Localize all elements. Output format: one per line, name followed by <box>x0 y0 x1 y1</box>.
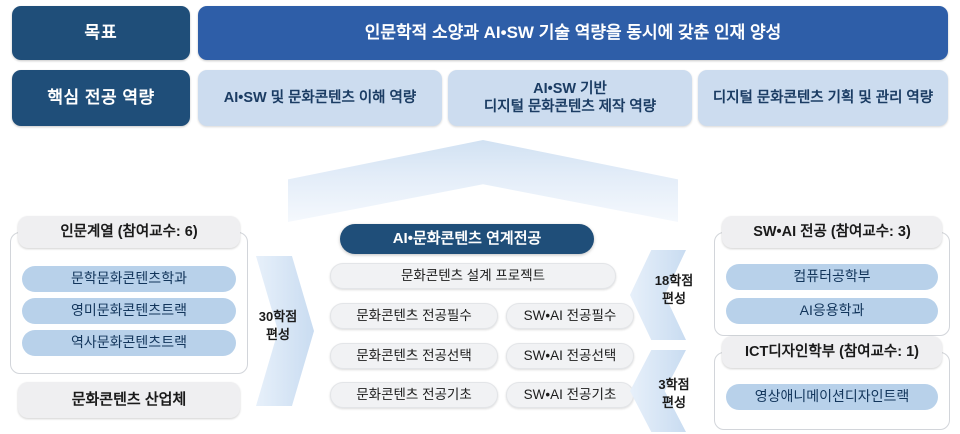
diagram-canvas: 목표 인문학적 소양과 AI•SW 기술 역량을 동시에 갖춘 인재 양성 핵심… <box>0 0 960 434</box>
humanities-department-1: 문학문화콘텐츠학과 <box>22 266 236 292</box>
competency-card-1: AI•SW 및 문화콘텐츠 이해 역량 <box>198 70 442 126</box>
interdisciplinary-major-title: AI•문화콘텐츠 연계전공 <box>340 224 594 254</box>
competency-card-3: 디지털 문화콘텐츠 기획 및 관리 역량 <box>698 70 948 126</box>
credit-label-sw: 18학점 편성 <box>646 272 702 307</box>
swai-panel-header: SW•AI 전공 (참여교수: 3) <box>722 216 942 248</box>
industry-partner-box: 문화콘텐츠 산업체 <box>18 382 240 418</box>
humanities-department-2: 영미문화콘텐츠트랙 <box>22 298 236 324</box>
goal-label: 목표 <box>12 6 190 60</box>
swai-department-1: 컴퓨터공학부 <box>726 264 938 290</box>
course-swai-basic: SW•AI 전공기초 <box>506 382 634 408</box>
upward-chevron-graphic <box>288 140 678 222</box>
course-content-elective: 문화콘텐츠 전공선택 <box>330 343 498 369</box>
ict-panel-header: ICT디자인학부 (참여교수: 1) <box>722 336 942 368</box>
goal-statement: 인문학적 소양과 AI•SW 기술 역량을 동시에 갖춘 인재 양성 <box>198 6 948 60</box>
humanities-panel-header: 인문계열 (참여교수: 6) <box>18 216 240 248</box>
humanities-department-3: 역사문화콘텐츠트랙 <box>22 330 236 356</box>
swai-department-2: AI응용학과 <box>726 298 938 324</box>
course-content-basic: 문화콘텐츠 전공기초 <box>330 382 498 408</box>
core-competency-label: 핵심 전공 역량 <box>12 70 190 126</box>
ict-department-1: 영상애니메이션디자인트랙 <box>726 384 938 410</box>
course-swai-required: SW•AI 전공필수 <box>506 303 634 329</box>
credit-label-ict: 3학점 편성 <box>646 376 702 411</box>
credit-label-left: 30학점 편성 <box>250 308 306 343</box>
course-content-required: 문화콘텐츠 전공필수 <box>330 303 498 329</box>
course-capstone-project: 문화콘텐츠 설계 프로젝트 <box>330 263 616 289</box>
course-swai-elective: SW•AI 전공선택 <box>506 343 634 369</box>
competency-card-2: AI•SW 기반 디지털 문화콘텐츠 제작 역량 <box>448 70 692 126</box>
